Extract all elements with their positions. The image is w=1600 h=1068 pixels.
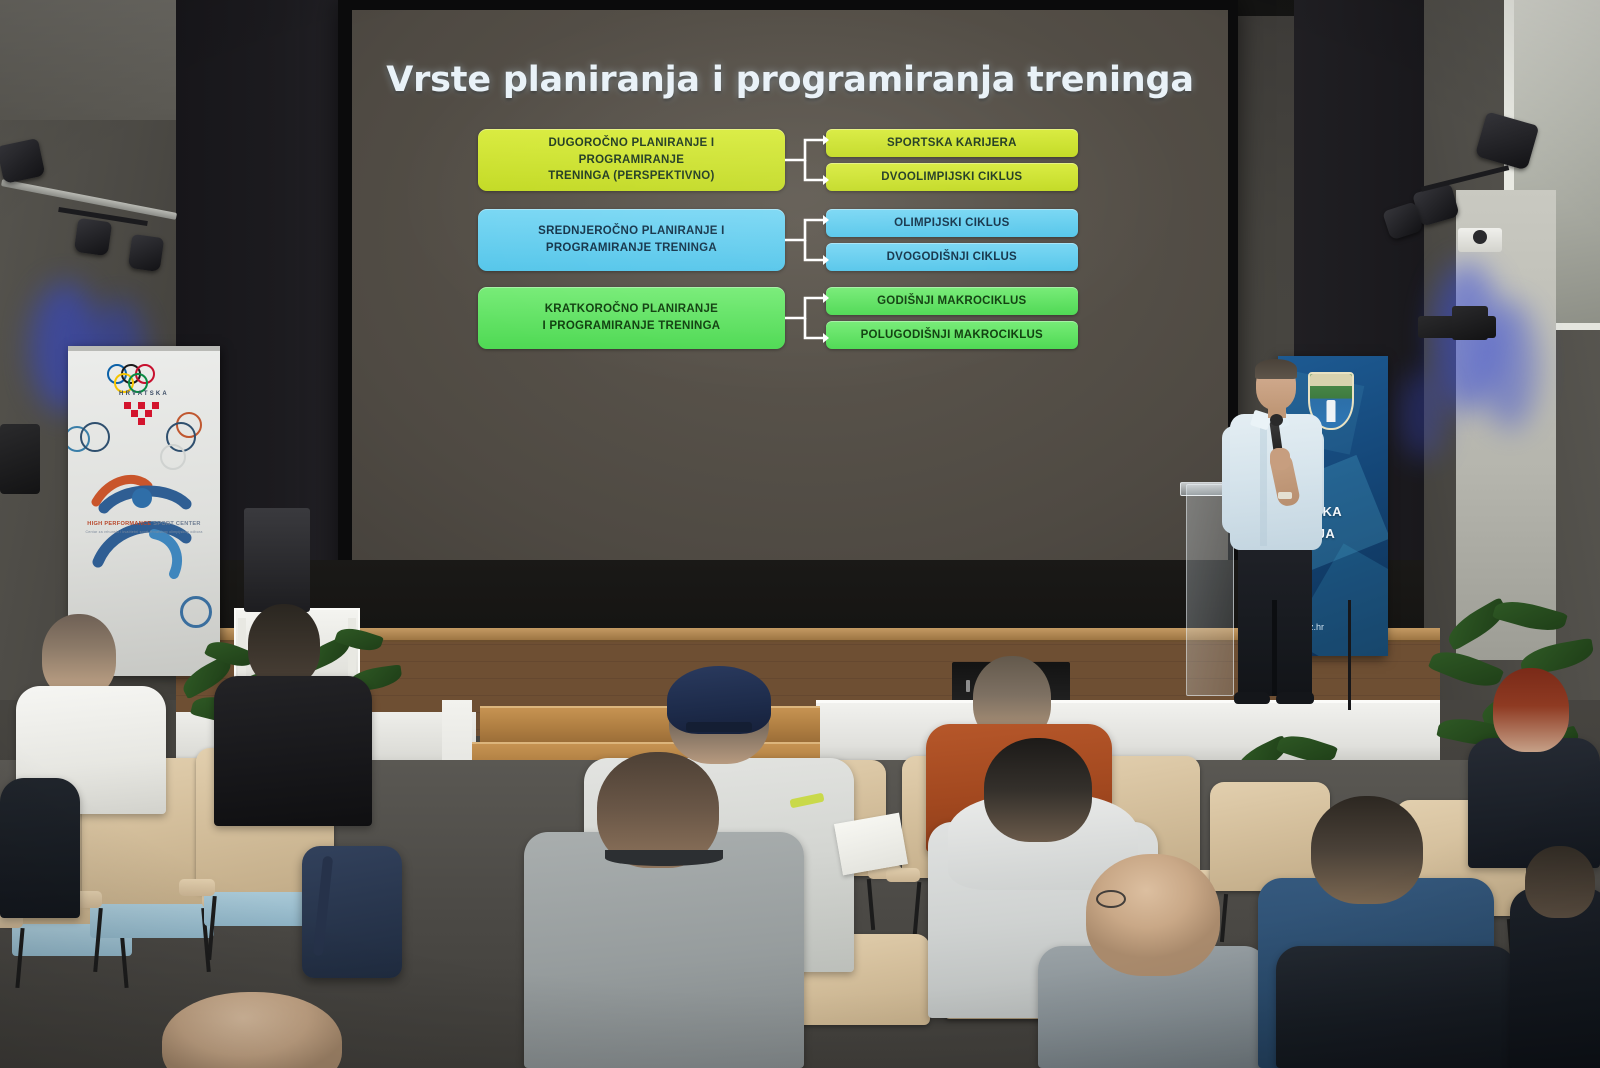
hpsc-logo-title: HIGH PERFORMANCE SPORT CENTER	[74, 521, 214, 527]
torso	[1276, 946, 1516, 1068]
head	[1525, 846, 1595, 918]
conference-photo-scene: Vrste planiranja i programiranja trening…	[0, 0, 1600, 1068]
croatian-checkerboard-icon	[124, 402, 164, 434]
audience-member-left-edge	[0, 738, 80, 918]
mic-stand	[1348, 600, 1351, 710]
presenter-wristwatch	[1278, 492, 1292, 499]
sub-box-dvogodisnji-ciklus: DVOGODIŠNJI CIKLUS	[826, 243, 1078, 271]
sub-box-dvoolimpijski-ciklus: DVOOLIMPIJSKI CIKLUS	[826, 163, 1078, 191]
head	[1493, 668, 1569, 752]
presenter-hair	[1255, 359, 1297, 379]
main-box-line-3: TRENINGA (PERSPEKTIVNO)	[548, 168, 714, 185]
blue-uplight-right-3	[1400, 370, 1446, 460]
wall-speaker-right-2	[1452, 306, 1488, 340]
slide-diagram: DUGOROČNO PLANIRANJE I PROGRAMIRANJE TRE…	[478, 128, 1078, 356]
torso	[0, 778, 80, 918]
stage-light-left-3	[128, 234, 164, 272]
torso	[214, 676, 372, 826]
eyeglasses-icon	[1096, 890, 1126, 908]
ptz-camera	[1458, 228, 1502, 252]
decor-ring-5	[180, 596, 212, 628]
audience-member-grey-tshirt	[524, 752, 804, 1068]
audience-member-bottom-left	[152, 992, 352, 1068]
presenter-shoe-right	[1276, 692, 1314, 704]
head	[1086, 854, 1220, 976]
banner-organization-label: HRVATSKA	[68, 391, 220, 397]
diagram-row-mid-term: SREDNJEROČNO PLANIRANJE I PROGRAMIRANJE …	[478, 208, 1078, 272]
sub-box-sportska-karijera: SPORTSKA KARIJERA	[826, 129, 1078, 157]
main-box-line-1: KRATKOROČNO PLANIRANJE	[542, 301, 720, 318]
olympic-rings-icon	[107, 364, 181, 388]
decor-ring-2	[80, 422, 110, 452]
head	[984, 738, 1092, 842]
diagram-main-box-mid-term: SREDNJEROČNO PLANIRANJE I PROGRAMIRANJE …	[478, 209, 785, 271]
microphone-head-icon	[1270, 414, 1283, 426]
camera-lens-icon	[1473, 230, 1487, 244]
presenter-shoe-left	[1234, 692, 1270, 704]
main-box-line-1: DUGOROČNO PLANIRANJE I	[548, 135, 714, 152]
diagram-main-box-short-term: KRATKOROČNO PLANIRANJE I PROGRAMIRANJE T…	[478, 287, 785, 349]
connector-arrow-short-term	[785, 287, 826, 349]
audience-member-black-puffer	[1276, 946, 1516, 1068]
connector-arrow-long-term	[785, 129, 826, 191]
main-box-line-2: PROGRAMIRANJE	[548, 152, 714, 169]
head	[248, 604, 320, 686]
left-wall-upper	[0, 0, 186, 120]
stage-light-left-2	[74, 218, 112, 256]
slide-title: Vrste planiranja i programiranja trening…	[352, 60, 1228, 100]
banner-top-rail	[68, 346, 220, 351]
diagram-sub-stack-mid-term: OLIMPIJSKI CIKLUS DVOGODIŠNJI CIKLUS	[826, 209, 1078, 271]
diagram-row-short-term: KRATKOROČNO PLANIRANJE I PROGRAMIRANJE T…	[478, 286, 1078, 350]
sub-box-olimpijski-ciklus: OLIMPIJSKI CIKLUS	[826, 209, 1078, 237]
diagram-sub-stack-short-term: GODIŠNJI MAKROCIKLUS POLUGODIŠNJI MAKROC…	[826, 287, 1078, 349]
collar	[605, 850, 723, 866]
audience-member-black-shirt	[214, 604, 372, 826]
cap-strap	[686, 722, 752, 732]
connector-arrow-mid-term	[785, 209, 826, 271]
sub-box-godisnji-makrociklus: GODIŠNJI MAKROCIKLUS	[826, 287, 1078, 315]
audience-member-bald-front	[1038, 854, 1268, 1068]
diagram-main-box-long-term: DUGOROČNO PLANIRANJE I PROGRAMIRANJE TRE…	[478, 129, 785, 191]
hpsc-logo-subtitle: Centar za vrhunski i kvalitetni sport Hr…	[74, 530, 214, 534]
presenter-hand	[1270, 448, 1290, 470]
main-box-line-1: SREDNJEROČNO PLANIRANJE I	[538, 223, 724, 240]
diagram-row-long-term: DUGOROČNO PLANIRANJE I PROGRAMIRANJE TRE…	[478, 128, 1078, 192]
main-box-line-2: PROGRAMIRANJE TRENINGA	[538, 240, 724, 257]
head	[162, 992, 342, 1068]
wall-speaker-left	[0, 424, 40, 494]
presenter-leg-split	[1272, 600, 1277, 696]
presenter	[1212, 362, 1332, 716]
presenter-shirt-placket	[1260, 420, 1267, 546]
audience-member-dark-jacket-right	[1510, 846, 1600, 1068]
head	[1311, 796, 1423, 904]
monitor-behind-table	[244, 508, 310, 612]
main-box-line-2: I PROGRAMIRANJE TRENINGA	[542, 318, 720, 335]
audience-member-red-hair-woman	[1468, 668, 1600, 868]
sub-box-polugodisnji-makrociklus: POLUGODIŠNJI MAKROCIKLUS	[826, 321, 1078, 349]
diagram-sub-stack-long-term: SPORTSKA KARIJERA DVOOLIMPIJSKI CIKLUS	[826, 129, 1078, 191]
